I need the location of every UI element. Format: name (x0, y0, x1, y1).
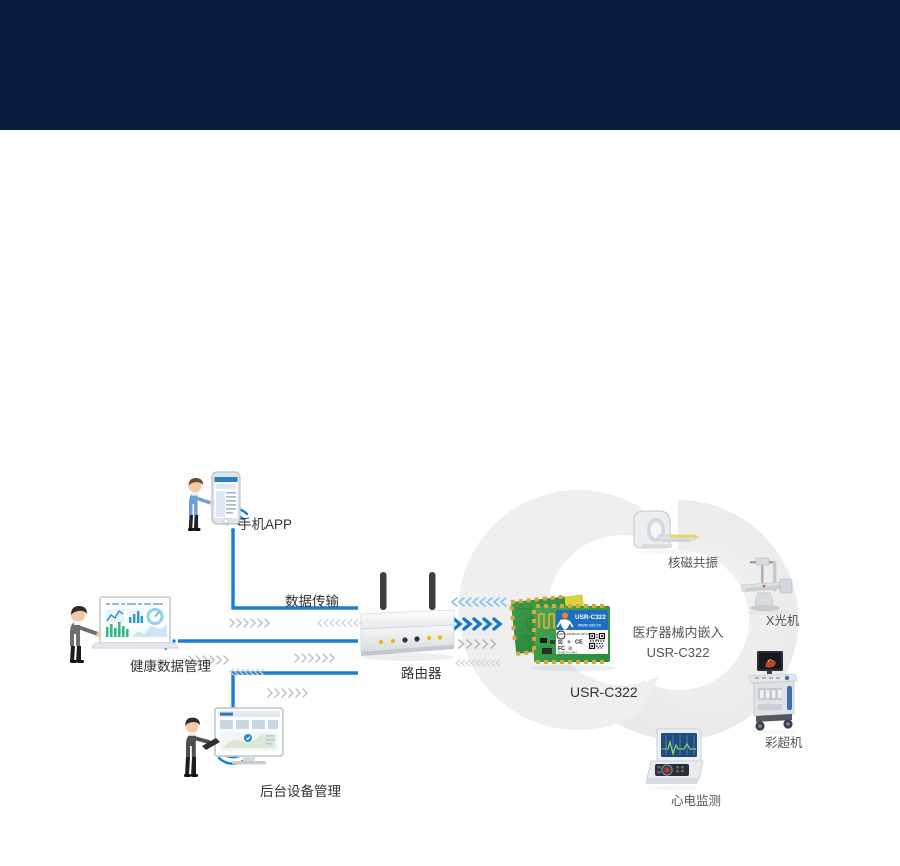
page-root: USR-C322 www.usr.cn MAC: D8-B0-4C-FF-FF-… (0, 0, 900, 866)
ecg-monitor-icon (645, 727, 707, 793)
topology-diagram: USR-C322 www.usr.cn MAC: D8-B0-4C-FF-FF-… (0, 130, 900, 866)
node-label-router: 路由器 (401, 665, 442, 683)
ring-center-line-1: 医疗器械内嵌入 (632, 623, 723, 643)
node-label-backend-device-management: 后台设备管理 (260, 783, 341, 801)
node-label-mobile-app: 手机APP (238, 516, 292, 534)
svg-text:⌧: ⌧ (558, 639, 563, 644)
diagram-vector-layer (0, 130, 900, 866)
chevron-stream-group (189, 619, 364, 697)
xray-machine-icon (740, 555, 802, 617)
ultrasound-cart-icon (745, 650, 803, 735)
node-label-health-data-management: 健康数据管理 (130, 658, 211, 676)
svg-text:USR-C322: USR-C322 (575, 614, 606, 621)
node-label-usr-c322-module: USR-C322 (570, 683, 638, 702)
ring-center-line-2: USR-C322 (632, 643, 723, 663)
wifi-module-icon: USR-C322 www.usr.cn MAC: D8-B0-4C-FF-FF-… (512, 590, 634, 682)
link-label-data-transfer: 数据传输 (285, 593, 339, 611)
wifi-router-icon (355, 572, 460, 664)
top-banner-band (0, 0, 900, 130)
svg-text:CE: CE (575, 639, 583, 645)
desktop-monitor-icon (182, 706, 287, 778)
laptop-dashboard-icon (68, 593, 178, 663)
ring-device-label-xray: X光机 (766, 613, 799, 630)
ring-device-label-ultrasound: 彩超机 (765, 735, 803, 752)
ring-device-label-mri: 核磁共振 (668, 555, 718, 572)
ring-device-label-ecg: 心电监测 (671, 793, 721, 810)
svg-text:MADE IN CHINA: MADE IN CHINA (558, 651, 577, 654)
svg-text:www.usr.cn: www.usr.cn (578, 623, 602, 628)
mri-scanner-icon (630, 508, 702, 556)
ring-center-caption: 医疗器械内嵌入 USR-C322 (632, 623, 723, 663)
